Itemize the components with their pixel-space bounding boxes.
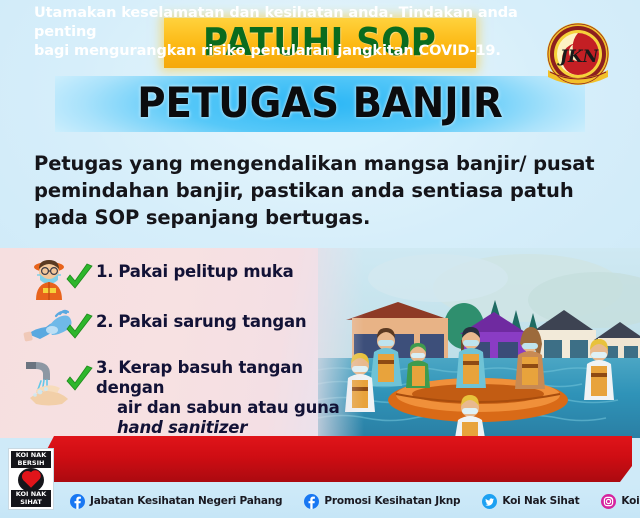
middle-panel: 1.Pakai pelitup muka: [0, 248, 640, 438]
green-check-icon: [62, 364, 96, 398]
list-item-number: 2.: [96, 312, 113, 331]
list-item-text: 1.Pakai pelitup muka: [96, 262, 348, 282]
koi-logo-heart-badge: [18, 468, 44, 492]
safety-banner-line2: bagi mengurangkan risiko penularan jangk…: [34, 42, 580, 61]
social-handle: Koi Nak Sihat: [621, 495, 640, 507]
poster-root: PATUHI SOP PETUGAS BANJIR JKN P: [0, 0, 640, 518]
koi-logo-bottom-text: KOI NAK SIHAT: [11, 490, 51, 507]
safety-banner-text: Utamakan keselamatan dan kesihatan anda.…: [34, 4, 580, 61]
intro-paragraph: Petugas yang mengendalikan mangsa banjir…: [34, 150, 614, 231]
koi-logo-top-text: KOI NAK BERSIH: [11, 451, 51, 468]
list-item-text: 3.Kerap basuh tangan dengan air dan sabu…: [96, 358, 348, 438]
intro-line-2: pemindahan banjir, pastikan anda sentias…: [34, 177, 614, 204]
list-item-label-line2: air dan sabun atau guna: [96, 398, 348, 418]
social-account-twitter[interactable]: Koi Nak Sihat: [482, 494, 579, 509]
list-item-label: Pakai sarung tangan: [118, 312, 306, 331]
heart-icon: [23, 473, 39, 489]
koi-bottom-line2: SIHAT: [20, 498, 42, 506]
green-check-icon: [62, 312, 96, 346]
social-account-facebook-promosi[interactable]: Promosi Kesihatan Jknp: [304, 494, 460, 509]
flood-rescue-illustration: [318, 248, 640, 438]
list-item-label-line1: Kerap basuh tangan dengan: [96, 358, 303, 397]
twitter-icon: [482, 494, 497, 509]
intro-line-1: Petugas yang mengendalikan mangsa banjir…: [34, 150, 614, 177]
koi-top-line2: BERSIH: [18, 459, 45, 467]
social-account-facebook-jkn[interactable]: Jabatan Kesihatan Negeri Pahang: [70, 494, 282, 509]
facebook-icon: [304, 494, 319, 509]
social-handle: Koi Nak Sihat: [502, 495, 579, 507]
intro-line-3: pada SOP sepanjang bertugas.: [34, 204, 614, 231]
page-title-line2: PETUGAS BANJIR: [76, 78, 564, 128]
safety-banner: [42, 436, 632, 482]
social-handle: Promosi Kesihatan Jknp: [324, 495, 460, 507]
social-account-instagram[interactable]: Koi Nak Sihat: [601, 494, 640, 509]
title-band-blue: PETUGAS BANJIR: [55, 76, 585, 132]
green-check-icon: [62, 262, 96, 296]
social-footer: Jabatan Kesihatan Negeri Pahang Promosi …: [0, 484, 640, 518]
facebook-icon: [70, 494, 85, 509]
list-item-number: 3.: [96, 358, 113, 377]
koi-nak-sihat-logo: KOI NAK BERSIH KOI NAK SIHAT: [8, 448, 54, 510]
sop-steps-list: 1.Pakai pelitup muka: [0, 248, 330, 438]
list-item-number: 1.: [96, 262, 113, 281]
safety-banner-line1: Utamakan keselamatan dan kesihatan anda.…: [34, 4, 580, 42]
list-item-label-line3: hand sanitizer: [96, 418, 348, 438]
social-handle: Jabatan Kesihatan Negeri Pahang: [90, 495, 282, 507]
instagram-icon: [601, 494, 616, 509]
list-item-label: Pakai pelitup muka: [118, 262, 293, 281]
list-item-text: 2.Pakai sarung tangan: [96, 312, 348, 332]
